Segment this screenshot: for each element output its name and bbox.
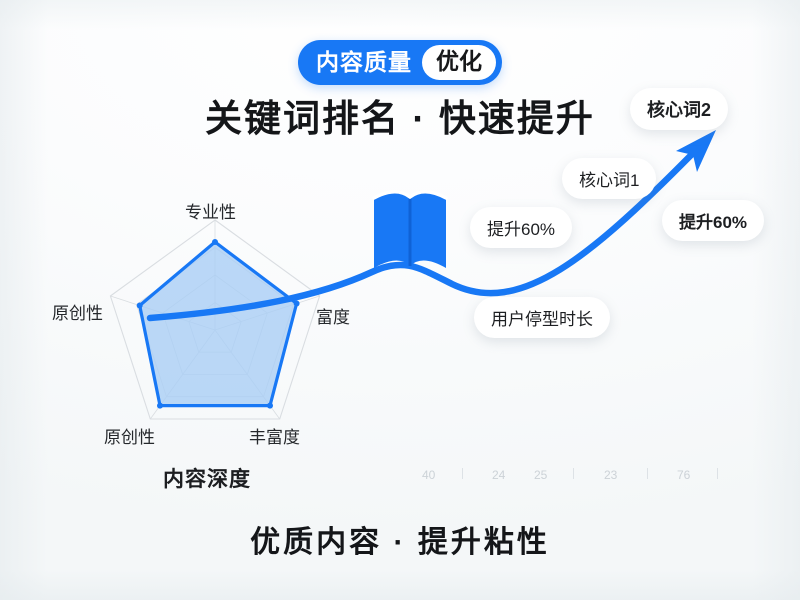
poster-canvas: 40 24 25 23 76 内容质量 优化 关键词排名 · 快速提升 优质内容… [0, 0, 800, 600]
content-depth-caption: 内容深度 [163, 463, 251, 493]
badge-main-label: 内容质量 [316, 51, 422, 74]
chip-keyword-1[interactable]: 核心词1 [562, 158, 656, 199]
chip-uplift-right[interactable]: 提升60% [662, 200, 764, 241]
book-page-left [374, 190, 410, 268]
radar-label-bottom-left: 原创性 [104, 423, 155, 448]
page-title: 关键词排名 · 快速提升 [205, 88, 595, 142]
book-page-right [410, 190, 446, 268]
radar-label-top: 专业性 [185, 198, 236, 223]
status-badge[interactable]: 内容质量 优化 [298, 40, 502, 85]
radar-label-right: 富度 [316, 303, 350, 328]
radar-label-bottom-right: 丰富度 [249, 423, 300, 448]
badge-pill-label: 优化 [422, 45, 496, 80]
chip-uplift-left[interactable]: 提升60% [470, 207, 572, 248]
footer-title: 优质内容 · 提升粘性 [250, 517, 550, 561]
chip-dwell-time[interactable]: 用户停型时长 [474, 297, 610, 338]
chip-keyword-2[interactable]: 核心词2 [630, 88, 728, 130]
radar-label-left: 原创性 [52, 299, 103, 324]
